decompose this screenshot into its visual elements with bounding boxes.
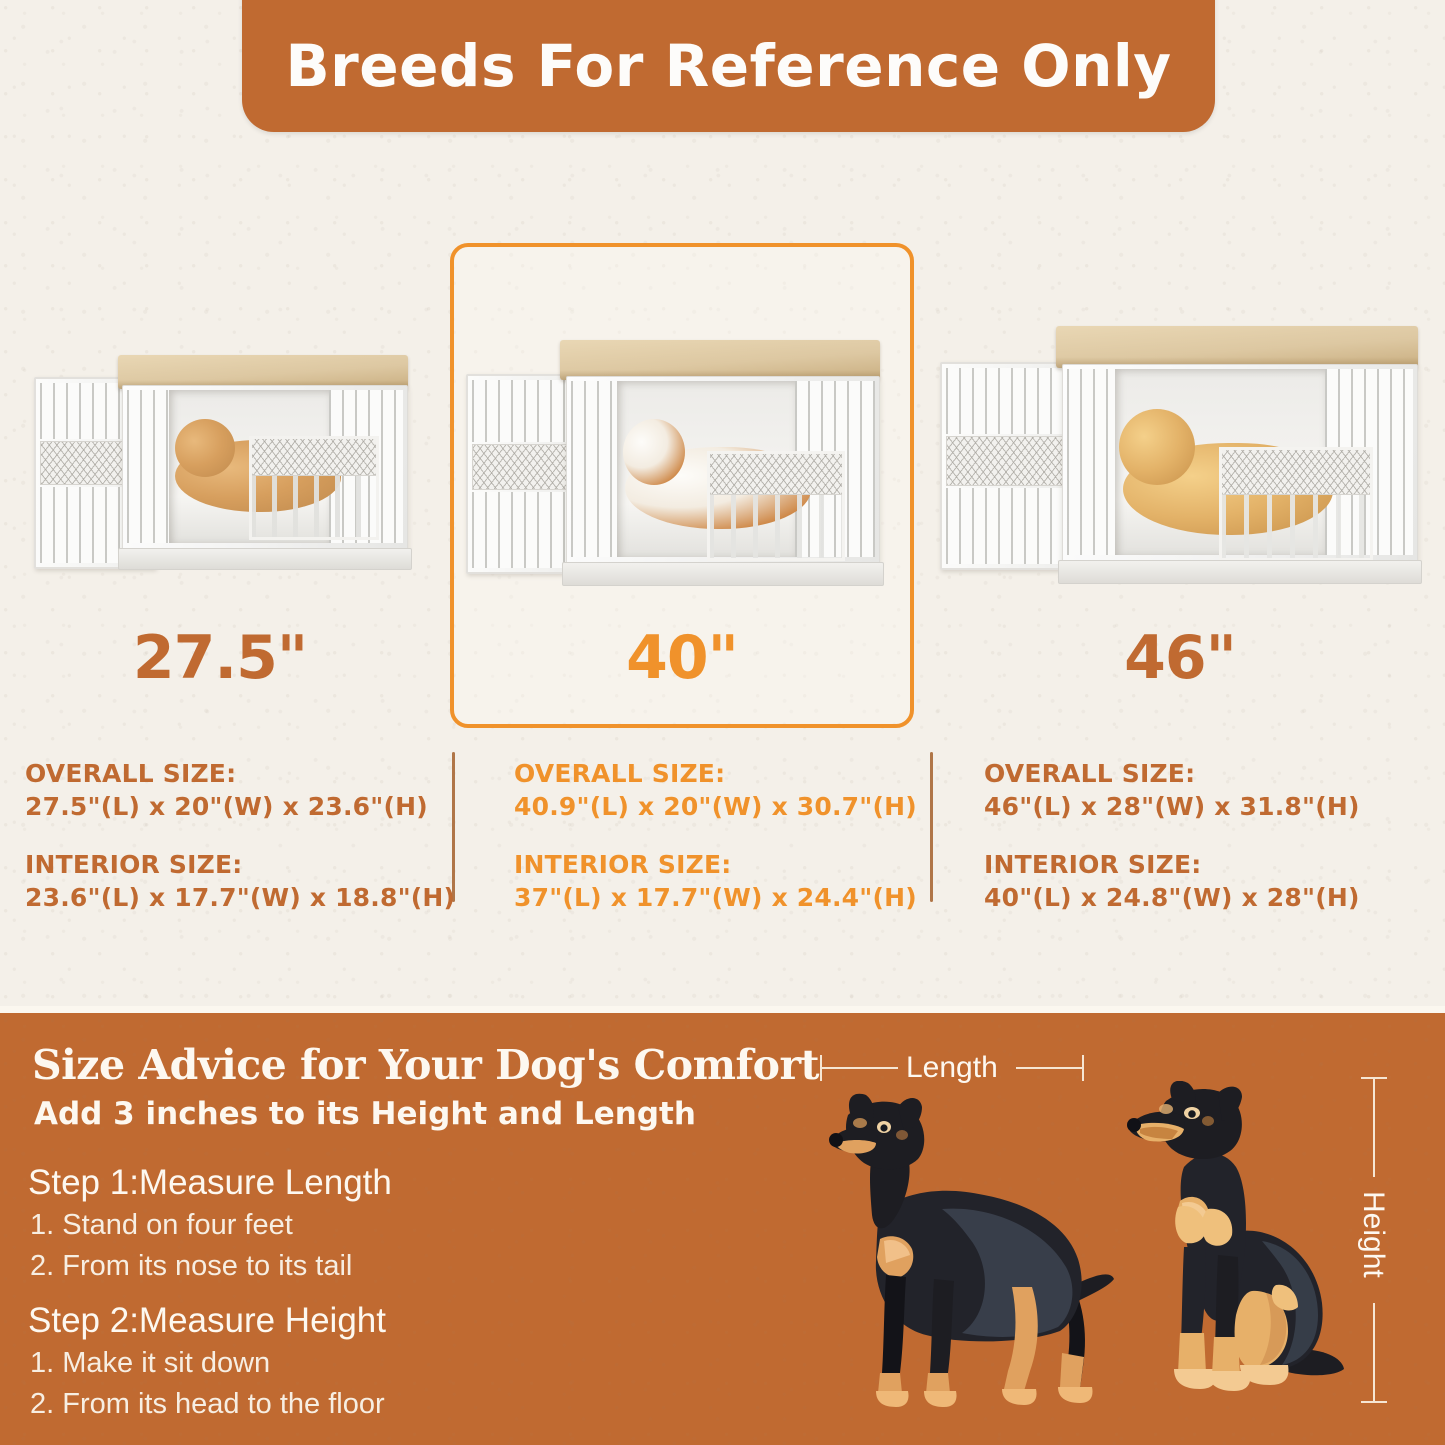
step-2-heading: Step 2:Measure Height bbox=[28, 1303, 386, 1338]
overall-size-heading: OVERALL SIZE: bbox=[25, 758, 455, 791]
doberman-standing-illustration bbox=[822, 1091, 1122, 1421]
size-label-46: 46" bbox=[960, 628, 1400, 688]
dog-head bbox=[623, 419, 685, 485]
header-banner: Breeds For Reference Only bbox=[242, 0, 1215, 132]
advice-title: Size Advice for Your Dog's Comfort bbox=[32, 1045, 819, 1086]
step-2-line-2: 2. From its head to the floor bbox=[30, 1390, 385, 1419]
gate-frame bbox=[707, 451, 845, 561]
length-guide-line-right bbox=[1016, 1067, 1082, 1069]
header-title: Breeds For Reference Only bbox=[285, 29, 1171, 95]
overall-size-value: 46"(L) x 28"(W) x 31.8"(H) bbox=[984, 791, 1360, 824]
height-guide-line-top bbox=[1373, 1077, 1375, 1177]
crate-base bbox=[562, 562, 884, 586]
crate-body bbox=[122, 385, 408, 550]
crate-door-panel bbox=[466, 374, 578, 574]
crate-image-46 bbox=[934, 318, 1430, 593]
body-left-slats bbox=[571, 381, 617, 557]
door-mesh bbox=[946, 436, 1066, 486]
interior-size-heading: INTERIOR SIZE: bbox=[25, 849, 455, 882]
spec-block-46: OVERALL SIZE: 46"(L) x 28"(W) x 31.8"(H)… bbox=[984, 758, 1360, 914]
doberman-sitting-illustration bbox=[1122, 1081, 1362, 1411]
crate-body bbox=[566, 376, 880, 564]
dog-head bbox=[1119, 409, 1195, 485]
spec-divider-right bbox=[930, 752, 933, 902]
door-slats bbox=[472, 380, 572, 442]
height-guide-line-bottom bbox=[1373, 1303, 1375, 1403]
overall-size-heading: OVERALL SIZE: bbox=[514, 758, 917, 791]
panel-top-strip bbox=[0, 1006, 1445, 1013]
spec-block-40: OVERALL SIZE: 40.9"(L) x 20"(W) x 30.7"(… bbox=[514, 758, 917, 914]
interior-size-value: 37"(L) x 17.7"(W) x 24.4"(H) bbox=[514, 882, 917, 915]
crate-wood-top bbox=[560, 340, 880, 380]
overall-size-heading: OVERALL SIZE: bbox=[984, 758, 1360, 791]
height-label: Height bbox=[1358, 1191, 1388, 1278]
spec-block-27-5: OVERALL SIZE: 27.5"(L) x 20"(W) x 23.6"(… bbox=[25, 758, 455, 914]
crate-wood-top bbox=[118, 355, 408, 389]
step-2-line-1: 1. Make it sit down bbox=[30, 1349, 270, 1378]
interior-size-value: 40"(L) x 24.8"(W) x 28"(H) bbox=[984, 882, 1360, 915]
advice-subtitle: Add 3 inches to its Height and Length bbox=[34, 1099, 696, 1130]
length-label: Length bbox=[906, 1053, 998, 1083]
gate-frame bbox=[249, 436, 379, 540]
gate-frame bbox=[1219, 447, 1373, 561]
crate-image-40 bbox=[462, 328, 892, 590]
length-guide-line-left bbox=[820, 1067, 898, 1069]
crate-body bbox=[1062, 364, 1418, 562]
crate-base bbox=[118, 548, 412, 570]
step-1-line-2: 2. From its nose to its tail bbox=[30, 1252, 352, 1281]
interior-size-heading: INTERIOR SIZE: bbox=[514, 849, 917, 882]
crate-wood-top bbox=[1056, 326, 1418, 368]
height-guide-cap-bottom bbox=[1361, 1401, 1387, 1403]
body-left-slats bbox=[1067, 369, 1115, 555]
step-1-heading: Step 1:Measure Length bbox=[28, 1165, 392, 1200]
crate-base bbox=[1058, 560, 1422, 584]
size-label-40: 40" bbox=[462, 628, 902, 688]
size-label-27-5: 27.5" bbox=[20, 628, 420, 688]
dog-head bbox=[175, 419, 235, 477]
door-slats bbox=[946, 368, 1066, 434]
advice-panel: Size Advice for Your Dog's Comfort Add 3… bbox=[0, 1013, 1445, 1445]
crate-door-panel bbox=[940, 362, 1072, 570]
interior-size-value: 23.6"(L) x 17.7"(W) x 18.8"(H) bbox=[25, 882, 455, 915]
body-left-slats bbox=[127, 390, 169, 543]
door-slats-lower bbox=[472, 492, 572, 568]
overall-size-value: 27.5"(L) x 20"(W) x 23.6"(H) bbox=[25, 791, 455, 824]
interior-size-heading: INTERIOR SIZE: bbox=[984, 849, 1360, 882]
crate-image-27-5 bbox=[22, 355, 422, 590]
length-guide-cap-right bbox=[1082, 1055, 1084, 1081]
door-slats-lower bbox=[946, 488, 1066, 564]
door-mesh bbox=[472, 444, 572, 490]
infographic-page: Breeds For Reference Only bbox=[0, 0, 1445, 1445]
overall-size-value: 40.9"(L) x 20"(W) x 30.7"(H) bbox=[514, 791, 917, 824]
step-1-line-1: 1. Stand on four feet bbox=[30, 1211, 293, 1240]
